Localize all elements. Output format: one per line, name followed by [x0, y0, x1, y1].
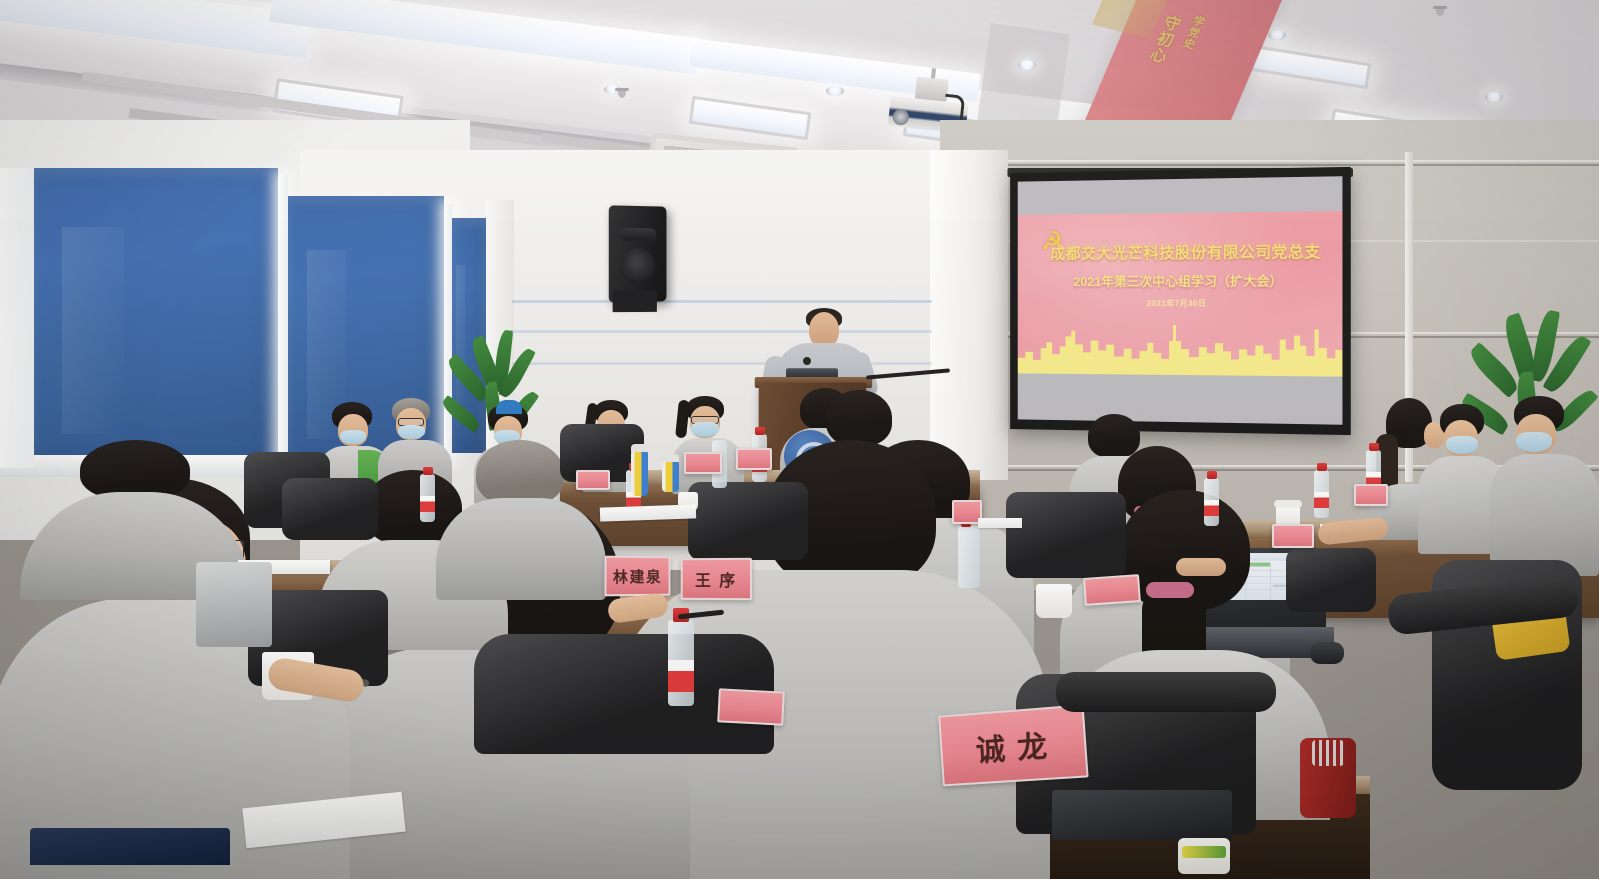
paper-cup[interactable]	[1036, 584, 1072, 618]
attendee-cap	[496, 400, 522, 414]
face-mask	[691, 422, 719, 437]
paper-document[interactable]	[978, 518, 1022, 528]
attendee-hand	[1176, 558, 1226, 576]
wall-speaker	[609, 205, 667, 302]
water-bottle-foreground[interactable]	[668, 620, 694, 706]
attendee-ponytail	[675, 400, 690, 439]
name-card-text: 林建泉	[613, 565, 663, 586]
name-card	[1083, 574, 1141, 606]
attendee-torso	[1490, 454, 1599, 576]
bottle-label	[668, 660, 694, 692]
slide-subtitle: 2021年第三次中心组学习（扩大会）	[1018, 270, 1343, 290]
name-card-text: 王 序	[695, 567, 737, 591]
skyline-graphic	[1018, 319, 1343, 377]
name-card: 王 序	[681, 558, 752, 600]
thermos-bottle[interactable]	[631, 450, 648, 496]
face-mask	[340, 430, 366, 444]
bottle-cap	[755, 427, 765, 435]
bottle-cap	[1207, 471, 1217, 479]
name-card	[576, 470, 610, 490]
projector-cable	[943, 94, 966, 122]
laptop-lid	[30, 828, 230, 865]
name-card	[684, 452, 722, 474]
name-card	[1272, 524, 1314, 548]
wall-panel-seam	[940, 160, 1599, 162]
name-card: 林建泉	[604, 556, 670, 597]
name-card	[1354, 484, 1388, 506]
presenter-lapel-mic-icon	[803, 357, 811, 365]
presentation-slide: ☭ 成都交大光芒科技股份有限公司党总支 2021年第三次中心组学习（扩大会） 2…	[1018, 211, 1343, 377]
attendee-right-4	[1490, 396, 1599, 576]
bottle-cap	[1369, 443, 1379, 451]
name-card	[736, 448, 772, 470]
water-bottle[interactable]	[1314, 470, 1329, 518]
window-blind[interactable]	[33, 168, 278, 463]
water-bottle[interactable]	[1204, 478, 1219, 526]
chair-armrest	[1056, 672, 1276, 712]
ceiling-light-panel	[1249, 45, 1372, 89]
hair-tie	[1146, 582, 1194, 598]
face-mask	[1516, 432, 1552, 452]
bottle-label	[1314, 492, 1329, 508]
attendee-hair	[476, 440, 564, 506]
sprinkler-head	[1436, 6, 1444, 16]
ceiling-downlight	[1485, 92, 1503, 102]
window-sill	[0, 168, 34, 468]
laptop-foreground-bottom[interactable]	[30, 828, 230, 879]
bottle-label	[420, 496, 435, 512]
projector-lens-icon	[892, 108, 910, 126]
chair[interactable]	[1006, 492, 1126, 578]
wall-panel-seam	[940, 164, 1599, 166]
laptop-lid	[196, 562, 272, 647]
desk-accessory-label	[1182, 846, 1226, 858]
meeting-room-photo: 学党史 守初心	[0, 0, 1599, 879]
speaker-tweeter-icon	[620, 228, 657, 241]
slide-date: 2021年7月30日	[1018, 298, 1343, 309]
tumbler-label	[1312, 740, 1344, 766]
attendee-hair	[80, 440, 190, 500]
speaker-cone-icon	[621, 248, 656, 284]
slide-title: 成都交大光芒科技股份有限公司党总支	[1050, 240, 1334, 264]
chair[interactable]	[282, 478, 378, 540]
laptop-lid	[1052, 790, 1232, 840]
screen-surface: ☭ 成都交大光芒科技股份有限公司党总支 2021年第三次中心组学习（扩大会） 2…	[1018, 176, 1343, 425]
attendee-hair	[826, 390, 892, 446]
ceiling-downlight	[1268, 30, 1286, 40]
chair[interactable]	[688, 482, 808, 560]
water-bottle[interactable]	[420, 474, 435, 522]
bottle-cap	[423, 467, 433, 475]
ceiling-downlight	[826, 86, 844, 96]
name-card	[717, 688, 785, 725]
thermos-bottle[interactable]	[662, 460, 679, 492]
wall-column	[930, 150, 1008, 480]
speaker-bracket	[613, 290, 657, 312]
name-card: 诚 龙	[938, 704, 1088, 786]
face-mask	[1446, 436, 1478, 454]
window-frame-gap	[278, 175, 288, 465]
chair[interactable]	[1286, 548, 1376, 612]
bottle-label	[1204, 500, 1219, 516]
sprinkler-head	[618, 88, 626, 98]
bottle-cap	[1317, 463, 1327, 471]
attendee-torso	[436, 498, 606, 600]
face-mask	[398, 425, 425, 439]
laptop-foreground-left[interactable]	[196, 562, 272, 680]
ceiling-downlight	[1018, 60, 1036, 70]
projection-screen: ☭ 成都交大光芒科技股份有限公司党总支 2021年第三次中心组学习（扩大会） 2…	[1010, 167, 1351, 435]
name-card-text: 诚 龙	[974, 721, 1050, 770]
wall-reflection	[512, 330, 932, 333]
wall-reflection	[512, 300, 932, 303]
water-bottle[interactable]	[958, 526, 980, 588]
